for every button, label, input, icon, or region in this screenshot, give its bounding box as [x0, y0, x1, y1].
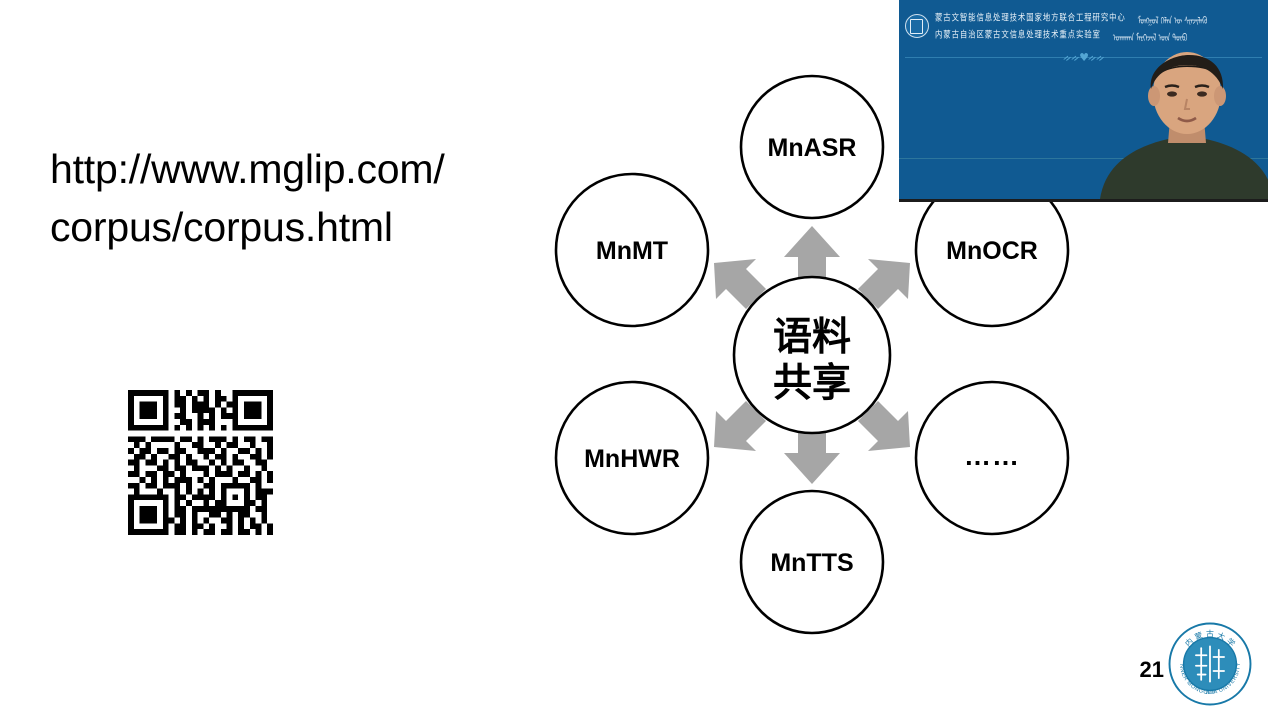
banner-line1-mongolian: ᠮᠣᠩᠭᠣᠯ ᠬᠡᠯᠡᠨ ᠦ ᠰᠢᠨᠵᠢᠯᠡᠬᠦ: [1138, 12, 1208, 27]
node-label: ……: [964, 441, 1020, 471]
corpus-url-text: http://www.mglip.com/ corpus/corpus.html: [50, 140, 520, 256]
page-number: 21: [1140, 657, 1164, 683]
slide-canvas: http://www.mglip.com/ corpus/corpus.html: [0, 0, 1268, 714]
banner-line1-chinese: 蒙古文智能信息处理技术国家地方联合工程研究中心: [935, 12, 1126, 25]
university-logo: 内 蒙 古 大 学 INNER MONGOLIA UNIVERSITY 1957: [1166, 620, 1254, 708]
institute-seal-icon: [905, 14, 929, 38]
person-svg: [1082, 49, 1268, 199]
node-mnasr[interactable]: MnASR: [741, 76, 883, 218]
node-label: MnHWR: [584, 445, 680, 473]
presentation-banner: 蒙古文智能信息处理技术国家地方联合工程研究中心 ᠮᠣᠩᠭᠣᠯ ᠬᠡᠯᠡᠨ ᠦ ᠰ…: [899, 0, 1268, 52]
banner-line-2: 内蒙古自治区蒙古文信息处理技术重点实验室 ᠤᠬᠠᠭᠠᠨ ᠮᠡᠷᠭᠡᠵᠢᠯ ᠦᠨ …: [935, 29, 1268, 41]
hub-label-line2: 共享: [773, 361, 851, 406]
logo-year: 1957: [1205, 690, 1215, 695]
node-label: MnOCR: [946, 237, 1038, 265]
banner-line-1: 蒙古文智能信息处理技术国家地方联合工程研究中心 ᠮᠣᠩᠭᠣᠯ ᠬᠡᠯᠡᠨ ᠦ ᠰ…: [935, 12, 1268, 24]
node-others[interactable]: ……: [916, 382, 1068, 534]
arrow-down: [784, 426, 840, 484]
banner-line2-chinese: 内蒙古自治区蒙古文信息处理技术重点实验室: [935, 28, 1101, 41]
hub-label-line1: 语料: [773, 315, 851, 360]
webcam-person: [1082, 49, 1268, 199]
webcam-video-overlay[interactable]: 蒙古文智能信息处理技术国家地方联合工程研究中心 ᠮᠣᠩᠭᠣᠯ ᠬᠡᠯᠡᠨ ᠦ ᠰ…: [899, 0, 1268, 202]
node-label: MnTTS: [770, 549, 853, 577]
node-mntts[interactable]: MnTTS: [741, 491, 883, 633]
node-label: MnASR: [768, 134, 857, 162]
node-mnmt[interactable]: MnMT: [556, 174, 708, 326]
banner-line2-mongolian: ᠤᠬᠠᠭᠠᠨ ᠮᠡᠷᠭᠡᠵᠢᠯ ᠦᠨ ᠲᠥᠪ: [1113, 26, 1188, 41]
node-label: MnMT: [596, 237, 668, 265]
banner-text-group: 蒙古文智能信息处理技术国家地方联合工程研究中心 ᠮᠣᠩᠭᠣᠯ ᠬᠡᠯᠡᠨ ᠦ ᠰ…: [935, 12, 1268, 41]
qr-code: [128, 390, 273, 535]
node-mnhwr[interactable]: MnHWR: [556, 382, 708, 534]
arrow-up: [784, 226, 840, 284]
qr-code-svg: [128, 390, 273, 535]
university-logo-svg: 内 蒙 古 大 学 INNER MONGOLIA UNIVERSITY 1957: [1166, 620, 1254, 708]
hub-node[interactable]: 语料 共享: [734, 277, 890, 433]
